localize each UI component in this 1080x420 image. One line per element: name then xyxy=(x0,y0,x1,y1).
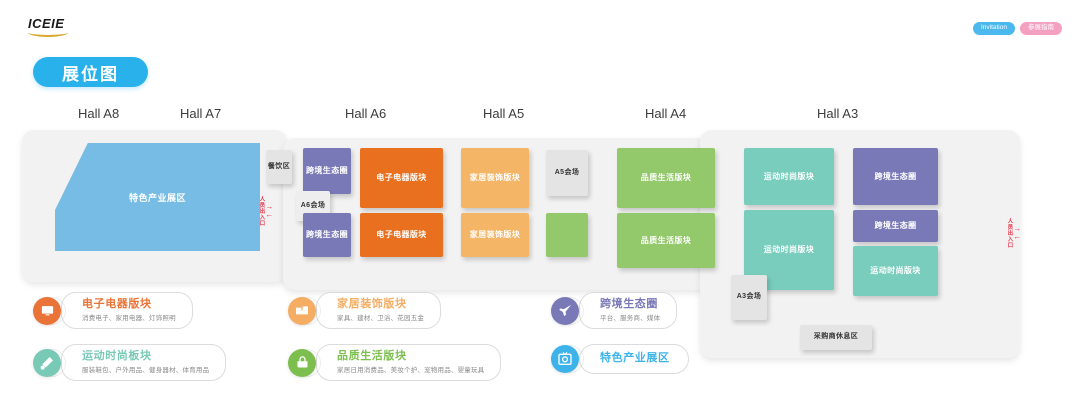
legend-title: 跨境生态圈 xyxy=(600,298,660,311)
legend-item[interactable]: 品质生活版块家居日用消费品、美妆个护、宠物用品、婴童玩具 xyxy=(288,344,501,381)
booth-block[interactable]: A5会场 xyxy=(546,150,588,196)
exhibition-floor-plan-page: ICEIE Invitation 参展指南 展位图 Hall A8Hall A7… xyxy=(0,0,1080,420)
page-title: 展位图 xyxy=(33,57,148,87)
exhibitor-guide-button[interactable]: 参展指南 xyxy=(1020,22,1062,35)
entrance-arrows-icon: →← xyxy=(1013,225,1021,240)
booth-block[interactable]: 餐饮区 xyxy=(266,150,292,184)
booth-block[interactable]: 品质生活版块 xyxy=(617,213,715,268)
booth-label: 品质生活版块 xyxy=(641,236,691,246)
legend-item[interactable]: 特色产业展区 xyxy=(551,344,689,374)
legend-item[interactable]: 运动时尚板块服装鞋包、户外用品、健身器材、体育用品 xyxy=(33,344,226,381)
booth-block[interactable]: 电子电器版块 xyxy=(360,148,443,208)
booth-block[interactable]: 跨境生态圈 xyxy=(303,213,351,257)
booth-block[interactable] xyxy=(546,213,588,257)
booth-label: 跨境生态圈 xyxy=(306,166,348,176)
basket-icon xyxy=(288,349,316,377)
legend-subtitle: 家具、建材、卫浴、花园五金 xyxy=(337,312,424,322)
legend-icon-holder xyxy=(551,345,585,373)
booth-label: A5会场 xyxy=(555,169,580,177)
airplane-icon xyxy=(551,297,579,325)
booth-label: 跨境生态圈 xyxy=(875,221,917,231)
legend-title: 特色产业展区 xyxy=(600,352,670,365)
booth-block[interactable]: 家居装饰版块 xyxy=(461,148,529,208)
booth-label: 家居装饰版块 xyxy=(470,230,520,240)
booth-block[interactable]: 电子电器版块 xyxy=(360,213,443,257)
hall-label-hall-a8: Hall A8 xyxy=(78,106,119,121)
hall-label-hall-a6: Hall A6 xyxy=(345,106,386,121)
legend-title: 品质生活版块 xyxy=(337,350,484,363)
logo-arc-decoration xyxy=(28,30,68,37)
legend-item[interactable]: 跨境生态圈平台、服务商、媒体 xyxy=(551,292,677,329)
legend-subtitle: 消费电子、家用电器、灯饰照明 xyxy=(82,312,176,322)
booth-label: 餐饮区 xyxy=(268,163,290,171)
legend-panel: 电子电器版块消费电子、家用电器、灯饰照明运动时尚板块服装鞋包、户外用品、健身器材… xyxy=(0,292,1080,397)
legend-subtitle: 家居日用消费品、美妆个护、宠物用品、婴童玩具 xyxy=(337,364,484,374)
legend-icon-holder xyxy=(33,349,67,377)
shuttlecock-icon xyxy=(33,349,61,377)
booth-block[interactable]: 运动时尚版块 xyxy=(744,148,834,205)
legend-subtitle: 平台、服务商、媒体 xyxy=(600,312,660,322)
legend-pill: 家居装饰版块家具、建材、卫浴、花园五金 xyxy=(316,292,441,329)
iceie-logo: ICEIE xyxy=(28,16,64,31)
hall-label-hall-a4: Hall A4 xyxy=(645,106,686,121)
legend-subtitle: 服装鞋包、户外用品、健身器材、体育用品 xyxy=(82,364,209,374)
booth-label: 运动时尚版块 xyxy=(870,266,920,276)
booth-block[interactable]: 跨境生态圈 xyxy=(303,148,351,194)
legend-pill: 特色产业展区 xyxy=(579,344,689,374)
sofa-icon xyxy=(288,297,316,325)
booth-label: A6会场 xyxy=(301,202,326,210)
legend-item[interactable]: 电子电器版块消费电子、家用电器、灯饰照明 xyxy=(33,292,193,329)
booth-label: 运动时尚版块 xyxy=(764,245,814,255)
legend-icon-holder xyxy=(33,297,67,325)
hall-label-hall-a3: Hall A3 xyxy=(817,106,858,121)
booth-block[interactable]: 运动时尚版块 xyxy=(853,246,938,296)
legend-icon-holder xyxy=(551,297,585,325)
booth-label: 跨境生态圈 xyxy=(875,172,917,182)
monitor-icon xyxy=(33,297,61,325)
entrance-label: 人员出入口 xyxy=(1006,218,1012,248)
legend-icon-holder xyxy=(288,349,322,377)
booth-label: 运动时尚版块 xyxy=(764,172,814,182)
booth-label: 跨境生态圈 xyxy=(306,230,348,240)
booth-label: 电子电器版块 xyxy=(376,173,426,183)
hall-label-hall-a7: Hall A7 xyxy=(180,106,221,121)
legend-pill: 跨境生态圈平台、服务商、媒体 xyxy=(579,292,677,329)
booth-block[interactable]: 家居装饰版块 xyxy=(461,213,529,257)
hall-label-hall-a5: Hall A5 xyxy=(483,106,524,121)
booth-block[interactable]: 品质生活版块 xyxy=(617,148,715,208)
legend-title: 家居装饰版块 xyxy=(337,298,424,311)
top-nav-pills: Invitation 参展指南 xyxy=(973,22,1062,35)
booth-label: 电子电器版块 xyxy=(376,230,426,240)
floor-plan-map: 特色产业展区 餐饮区跨境生态圈A6会场跨境生态圈电子电器版块电子电器版块家居装饰… xyxy=(0,126,1080,291)
entrance-arrows-icon: →← xyxy=(265,203,273,218)
legend-icon-holder xyxy=(288,297,322,325)
special-industry-zone-label: 特色产业展区 xyxy=(129,191,186,204)
legend-pill: 运动时尚板块服装鞋包、户外用品、健身器材、体育用品 xyxy=(61,344,226,381)
legend-item[interactable]: 家居装饰版块家具、建材、卫浴、花园五金 xyxy=(288,292,441,329)
entrance-left: 人员出入口→← xyxy=(258,196,273,226)
special-industry-zone[interactable]: 特色产业展区 xyxy=(55,143,260,251)
entrance-right: 人员出入口→← xyxy=(1006,218,1021,248)
booth-block[interactable]: 跨境生态圈 xyxy=(853,210,938,242)
booth-label: 家居装饰版块 xyxy=(470,173,520,183)
legend-title: 电子电器版块 xyxy=(82,298,176,311)
booth-label: 品质生活版块 xyxy=(641,173,691,183)
entrance-label: 人员出入口 xyxy=(258,196,264,226)
legend-title: 运动时尚板块 xyxy=(82,350,209,363)
camera-icon xyxy=(551,345,579,373)
invitation-button[interactable]: Invitation xyxy=(973,22,1015,35)
legend-pill: 电子电器版块消费电子、家用电器、灯饰照明 xyxy=(61,292,193,329)
booth-block[interactable]: 跨境生态圈 xyxy=(853,148,938,205)
legend-pill: 品质生活版块家居日用消费品、美妆个护、宠物用品、婴童玩具 xyxy=(316,344,501,381)
